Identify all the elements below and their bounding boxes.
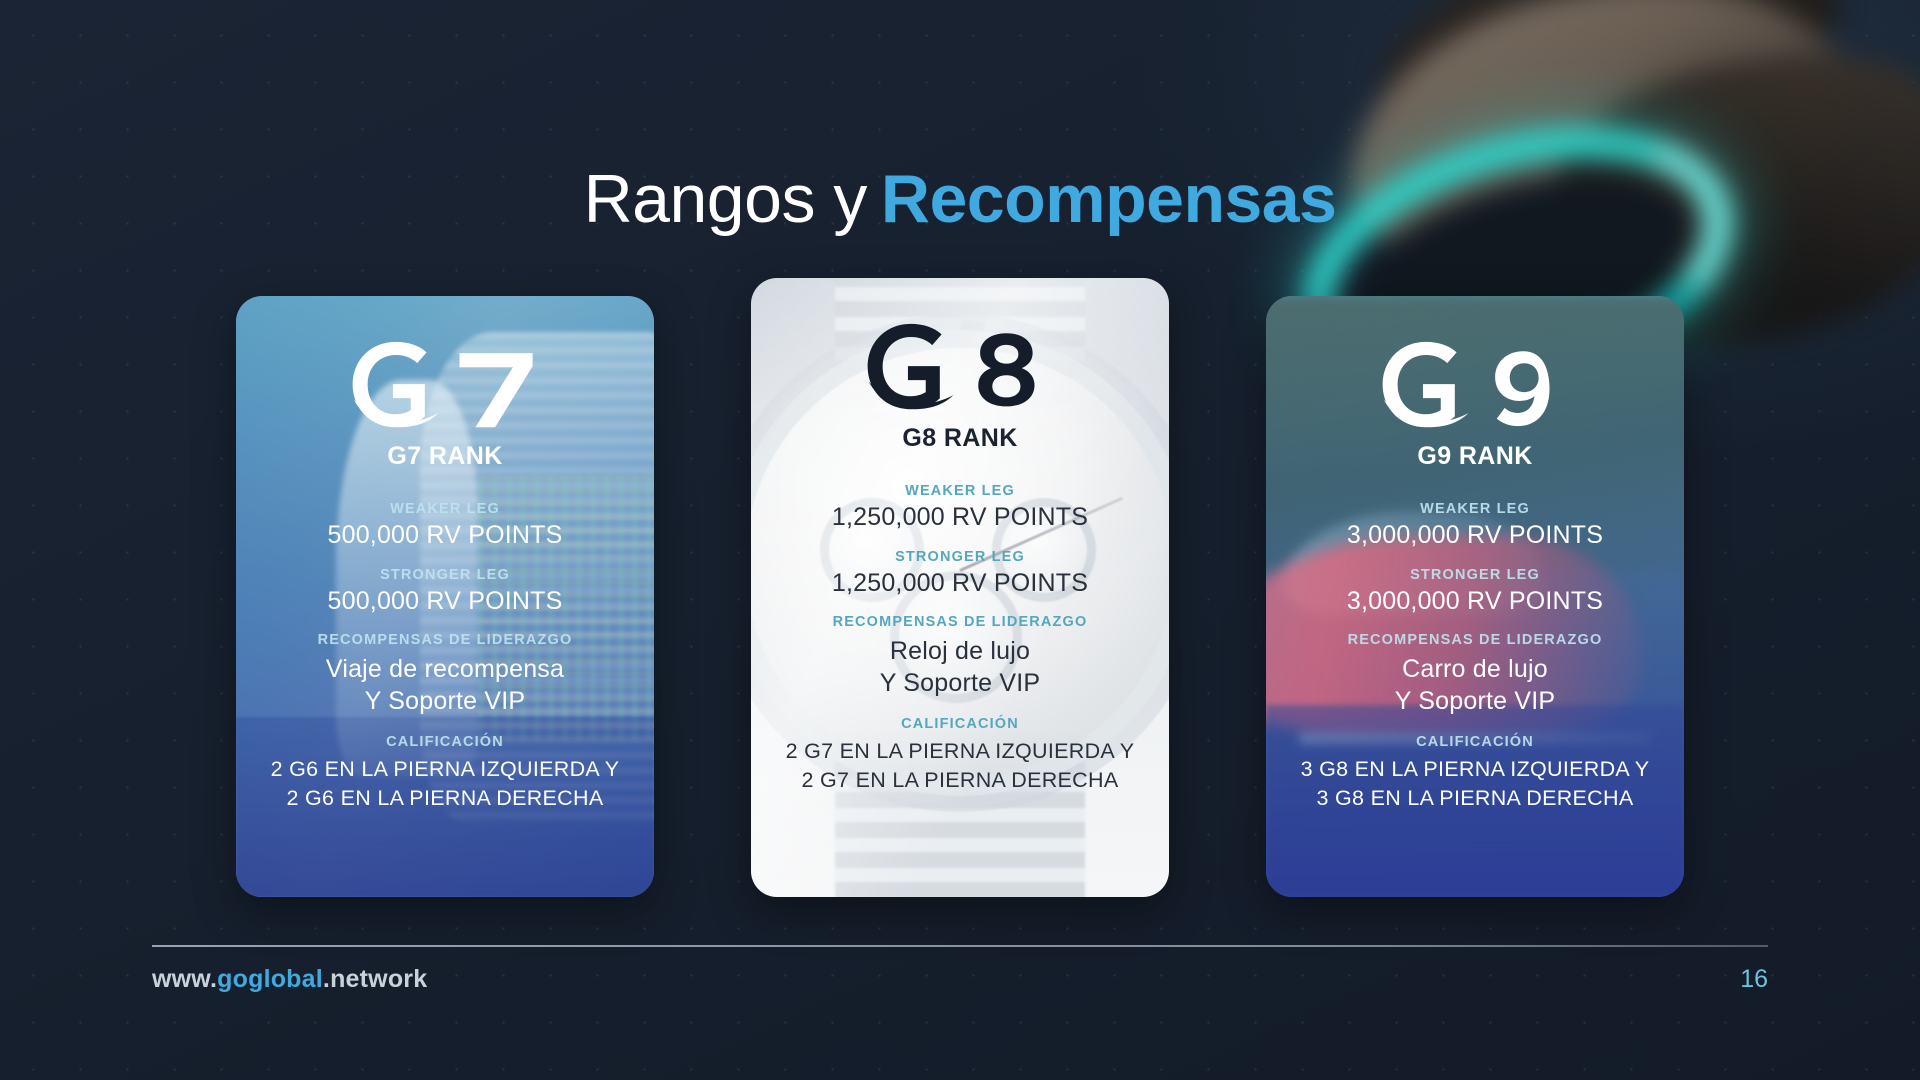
field-value: Viaje de recompensa Y Soporte VIP bbox=[256, 653, 634, 717]
field-label: CALIFICACIÓN bbox=[771, 716, 1149, 732]
field-value: 1,250,000 RV POINTS bbox=[771, 504, 1149, 532]
field-label: WEAKER LEG bbox=[771, 483, 1149, 499]
field-value: 500,000 RV POINTS bbox=[256, 522, 634, 550]
rank-label-g9: G9 RANK bbox=[1286, 442, 1664, 471]
page-title: Rangos yRecompensas bbox=[0, 165, 1920, 233]
title-part-two: Recompensas bbox=[881, 161, 1337, 237]
title-part-one: Rangos y bbox=[584, 161, 867, 237]
field-value: 2 G6 EN LA PIERNA IZQUIERDA Y 2 G6 EN LA… bbox=[256, 755, 634, 812]
rank-card-g7[interactable]: G7 RANK WEAKER LEG 500,000 RV POINTS STR… bbox=[236, 296, 654, 897]
url-suffix: .network bbox=[323, 965, 427, 993]
field-leadership-rewards-g9: RECOMPENSAS DE LIDERAZGO Carro de lujo Y… bbox=[1286, 632, 1664, 717]
field-label: CALIFICACIÓN bbox=[256, 734, 634, 750]
rank-label-g7: G7 RANK bbox=[256, 442, 634, 471]
field-value: Reloj de lujo Y Soporte VIP bbox=[771, 635, 1149, 699]
field-label: STRONGER LEG bbox=[256, 567, 634, 583]
rank-label-g8: G8 RANK bbox=[771, 424, 1149, 453]
field-qualification-g9: CALIFICACIÓN 3 G8 EN LA PIERNA IZQUIERDA… bbox=[1286, 734, 1664, 812]
url-prefix: www. bbox=[152, 965, 217, 993]
rank-card-g8[interactable]: G8 RANK WEAKER LEG 1,250,000 RV POINTS S… bbox=[751, 278, 1169, 897]
g7-logo-icon bbox=[347, 340, 544, 430]
field-weaker-leg-g9: WEAKER LEG 3,000,000 RV POINTS bbox=[1286, 501, 1664, 550]
field-label: STRONGER LEG bbox=[1286, 567, 1664, 583]
field-value: 500,000 RV POINTS bbox=[256, 588, 634, 616]
g9-logo-icon bbox=[1377, 340, 1574, 430]
field-qualification-g8: CALIFICACIÓN 2 G7 EN LA PIERNA IZQUIERDA… bbox=[771, 716, 1149, 794]
field-label: RECOMPENSAS DE LIDERAZGO bbox=[256, 632, 634, 648]
rank-cards-row: G7 RANK WEAKER LEG 500,000 RV POINTS STR… bbox=[0, 296, 1920, 897]
footer: www.goglobal.network 16 bbox=[152, 965, 1768, 994]
field-value: Carro de lujo Y Soporte VIP bbox=[1286, 653, 1664, 717]
field-stronger-leg-g9: STRONGER LEG 3,000,000 RV POINTS bbox=[1286, 567, 1664, 616]
field-value: 3 G8 EN LA PIERNA IZQUIERDA Y 3 G8 EN LA… bbox=[1286, 755, 1664, 812]
field-leadership-rewards-g7: RECOMPENSAS DE LIDERAZGO Viaje de recomp… bbox=[256, 632, 634, 717]
field-weaker-leg-g8: WEAKER LEG 1,250,000 RV POINTS bbox=[771, 483, 1149, 532]
field-label: WEAKER LEG bbox=[256, 501, 634, 517]
field-stronger-leg-g7: STRONGER LEG 500,000 RV POINTS bbox=[256, 567, 634, 616]
field-label: STRONGER LEG bbox=[771, 549, 1149, 565]
footer-divider bbox=[152, 945, 1768, 947]
rank-card-g9[interactable]: G9 RANK WEAKER LEG 3,000,000 RV POINTS S… bbox=[1266, 296, 1684, 897]
field-label: CALIFICACIÓN bbox=[1286, 734, 1664, 750]
website-url[interactable]: www.goglobal.network bbox=[152, 965, 427, 994]
field-value: 3,000,000 RV POINTS bbox=[1286, 588, 1664, 616]
page-number: 16 bbox=[1740, 965, 1768, 994]
field-value: 1,250,000 RV POINTS bbox=[771, 570, 1149, 598]
field-weaker-leg-g7: WEAKER LEG 500,000 RV POINTS bbox=[256, 501, 634, 550]
field-label: WEAKER LEG bbox=[1286, 501, 1664, 517]
field-value: 2 G7 EN LA PIERNA IZQUIERDA Y 2 G7 EN LA… bbox=[771, 737, 1149, 794]
g8-logo-icon bbox=[862, 322, 1059, 412]
field-value: 3,000,000 RV POINTS bbox=[1286, 522, 1664, 550]
slide-canvas: Rangos yRecompensas G7 RANK WEAKER LEG 5… bbox=[0, 0, 1920, 1080]
field-leadership-rewards-g8: RECOMPENSAS DE LIDERAZGO Reloj de lujo Y… bbox=[771, 614, 1149, 699]
field-label: RECOMPENSAS DE LIDERAZGO bbox=[1286, 632, 1664, 648]
url-brand: goglobal bbox=[217, 965, 323, 993]
field-stronger-leg-g8: STRONGER LEG 1,250,000 RV POINTS bbox=[771, 549, 1149, 598]
field-qualification-g7: CALIFICACIÓN 2 G6 EN LA PIERNA IZQUIERDA… bbox=[256, 734, 634, 812]
field-label: RECOMPENSAS DE LIDERAZGO bbox=[771, 614, 1149, 630]
